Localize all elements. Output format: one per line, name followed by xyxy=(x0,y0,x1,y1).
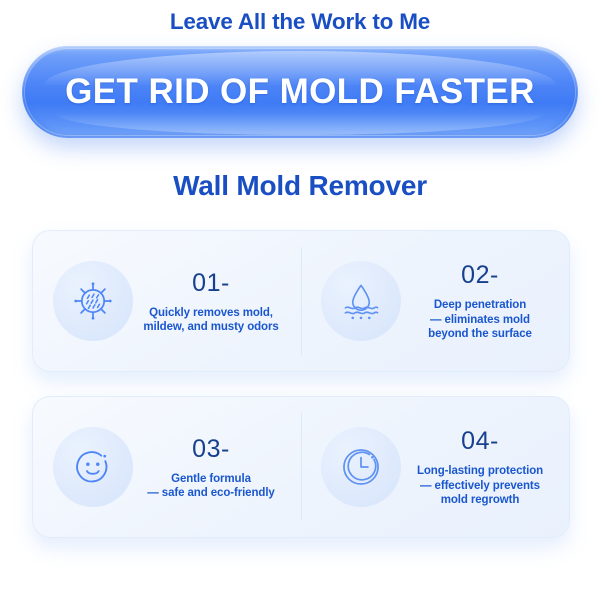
feature-text-04: 04- Long-lasting protection — effectivel… xyxy=(401,426,559,508)
clock-icon-bubble xyxy=(321,427,401,507)
virus-icon-bubble xyxy=(53,261,133,341)
feature-card-row-2: 03- Gentle formula — safe and eco-friend… xyxy=(32,396,570,538)
feature-number-01: 01- xyxy=(133,268,289,298)
smiley-face-icon xyxy=(71,445,115,489)
hero-banner: GET RID OF MOLD FASTER xyxy=(22,46,578,138)
feature-text-02: 02- Deep penetration — eliminates mold b… xyxy=(401,260,559,342)
feature-number-03: 03- xyxy=(133,434,289,464)
feature-cell-03: 03- Gentle formula — safe and eco-friend… xyxy=(33,397,301,537)
virus-icon xyxy=(71,279,115,323)
feature-description-03: Gentle formula — safe and eco-friendly xyxy=(133,472,289,501)
feature-cell-04: 04- Long-lasting protection — effectivel… xyxy=(301,397,569,537)
feature-description-04: Long-lasting protection — effectively pr… xyxy=(403,464,557,508)
feature-description-02: Deep penetration — eliminates mold beyon… xyxy=(403,298,557,342)
feature-text-01: 01- Quickly removes mold, mildew, and mu… xyxy=(133,268,291,335)
page-headline: Leave All the Work to Me xyxy=(0,8,600,36)
water-droplet-icon-bubble xyxy=(321,261,401,341)
feature-card-row-1: 01- Quickly removes mold, mildew, and mu… xyxy=(32,230,570,372)
feature-cell-01: 01- Quickly removes mold, mildew, and mu… xyxy=(33,231,301,371)
feature-text-03: 03- Gentle formula — safe and eco-friend… xyxy=(133,434,291,501)
smiley-face-icon-bubble xyxy=(53,427,133,507)
promo-page: Leave All the Work to Me GET RID OF MOLD… xyxy=(0,0,600,600)
water-droplet-icon xyxy=(339,279,383,323)
product-subtitle: Wall Mold Remover xyxy=(0,168,600,204)
feature-number-04: 04- xyxy=(403,426,557,456)
feature-cell-02: 02- Deep penetration — eliminates mold b… xyxy=(301,231,569,371)
clock-icon xyxy=(339,445,383,489)
feature-number-02: 02- xyxy=(403,260,557,290)
feature-description-01: Quickly removes mold, mildew, and musty … xyxy=(133,306,289,335)
hero-banner-text: GET RID OF MOLD FASTER xyxy=(22,46,578,138)
